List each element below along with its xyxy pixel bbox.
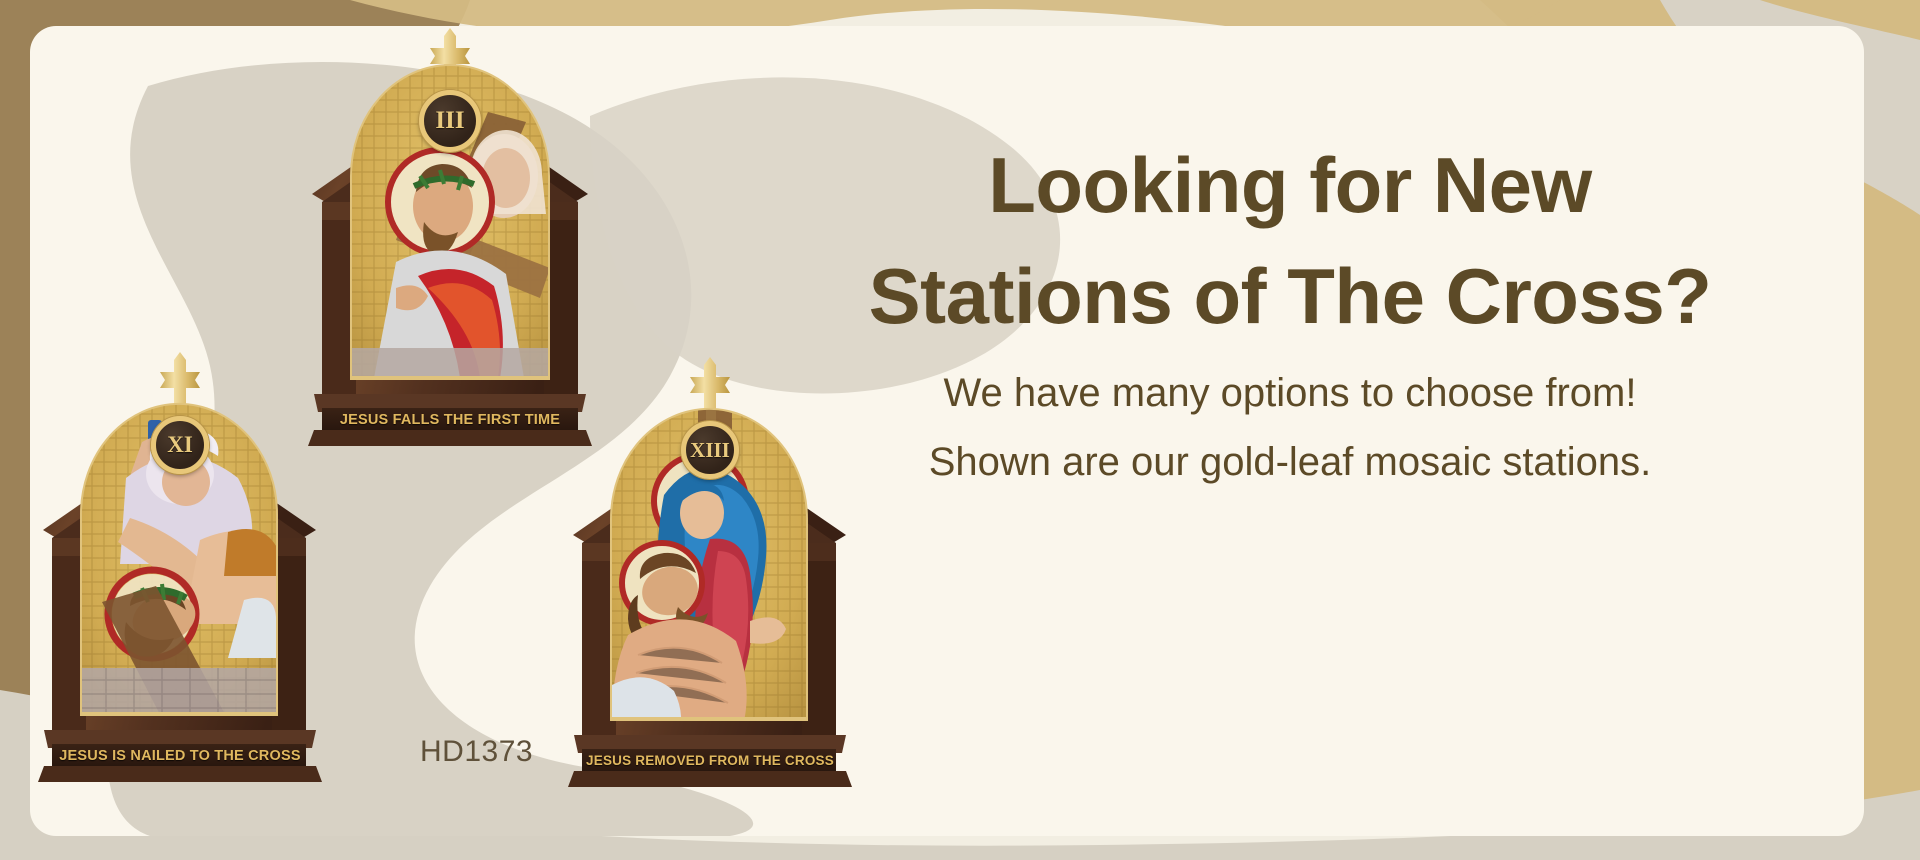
station-iii-caption: JESUS FALLS THE FIRST TIME	[300, 412, 600, 428]
headline-line-1: Looking for New	[760, 130, 1820, 241]
station-iii[interactable]: III	[300, 26, 600, 486]
station-iii-numeral: III	[435, 107, 464, 135]
promo-banner: Looking for New Stations of The Cross? W…	[0, 0, 1920, 860]
station-iii-numeral-medallion: III	[419, 90, 481, 152]
subhead-line-2: Shown are our gold-leaf mosaic stations.	[760, 435, 1820, 490]
promo-copy: Looking for New Stations of The Cross? W…	[760, 130, 1820, 490]
product-sku-label: HD1373	[420, 735, 533, 769]
station-xiii-numeral: XIII	[690, 438, 730, 463]
station-xi[interactable]: XI	[30, 350, 330, 820]
station-xi-numeral: XI	[167, 432, 193, 458]
headline-line-2: Stations of The Cross?	[760, 241, 1820, 352]
station-xiii-caption: JESUS REMOVED FROM THE CROSS	[560, 753, 860, 768]
station-xi-numeral-medallion: XI	[151, 416, 209, 474]
station-xi-caption: JESUS IS NAILED TO THE CROSS	[30, 748, 330, 764]
station-xiii-numeral-medallion: XIII	[681, 421, 739, 479]
subhead-line-1: We have many options to choose from!	[760, 366, 1820, 421]
